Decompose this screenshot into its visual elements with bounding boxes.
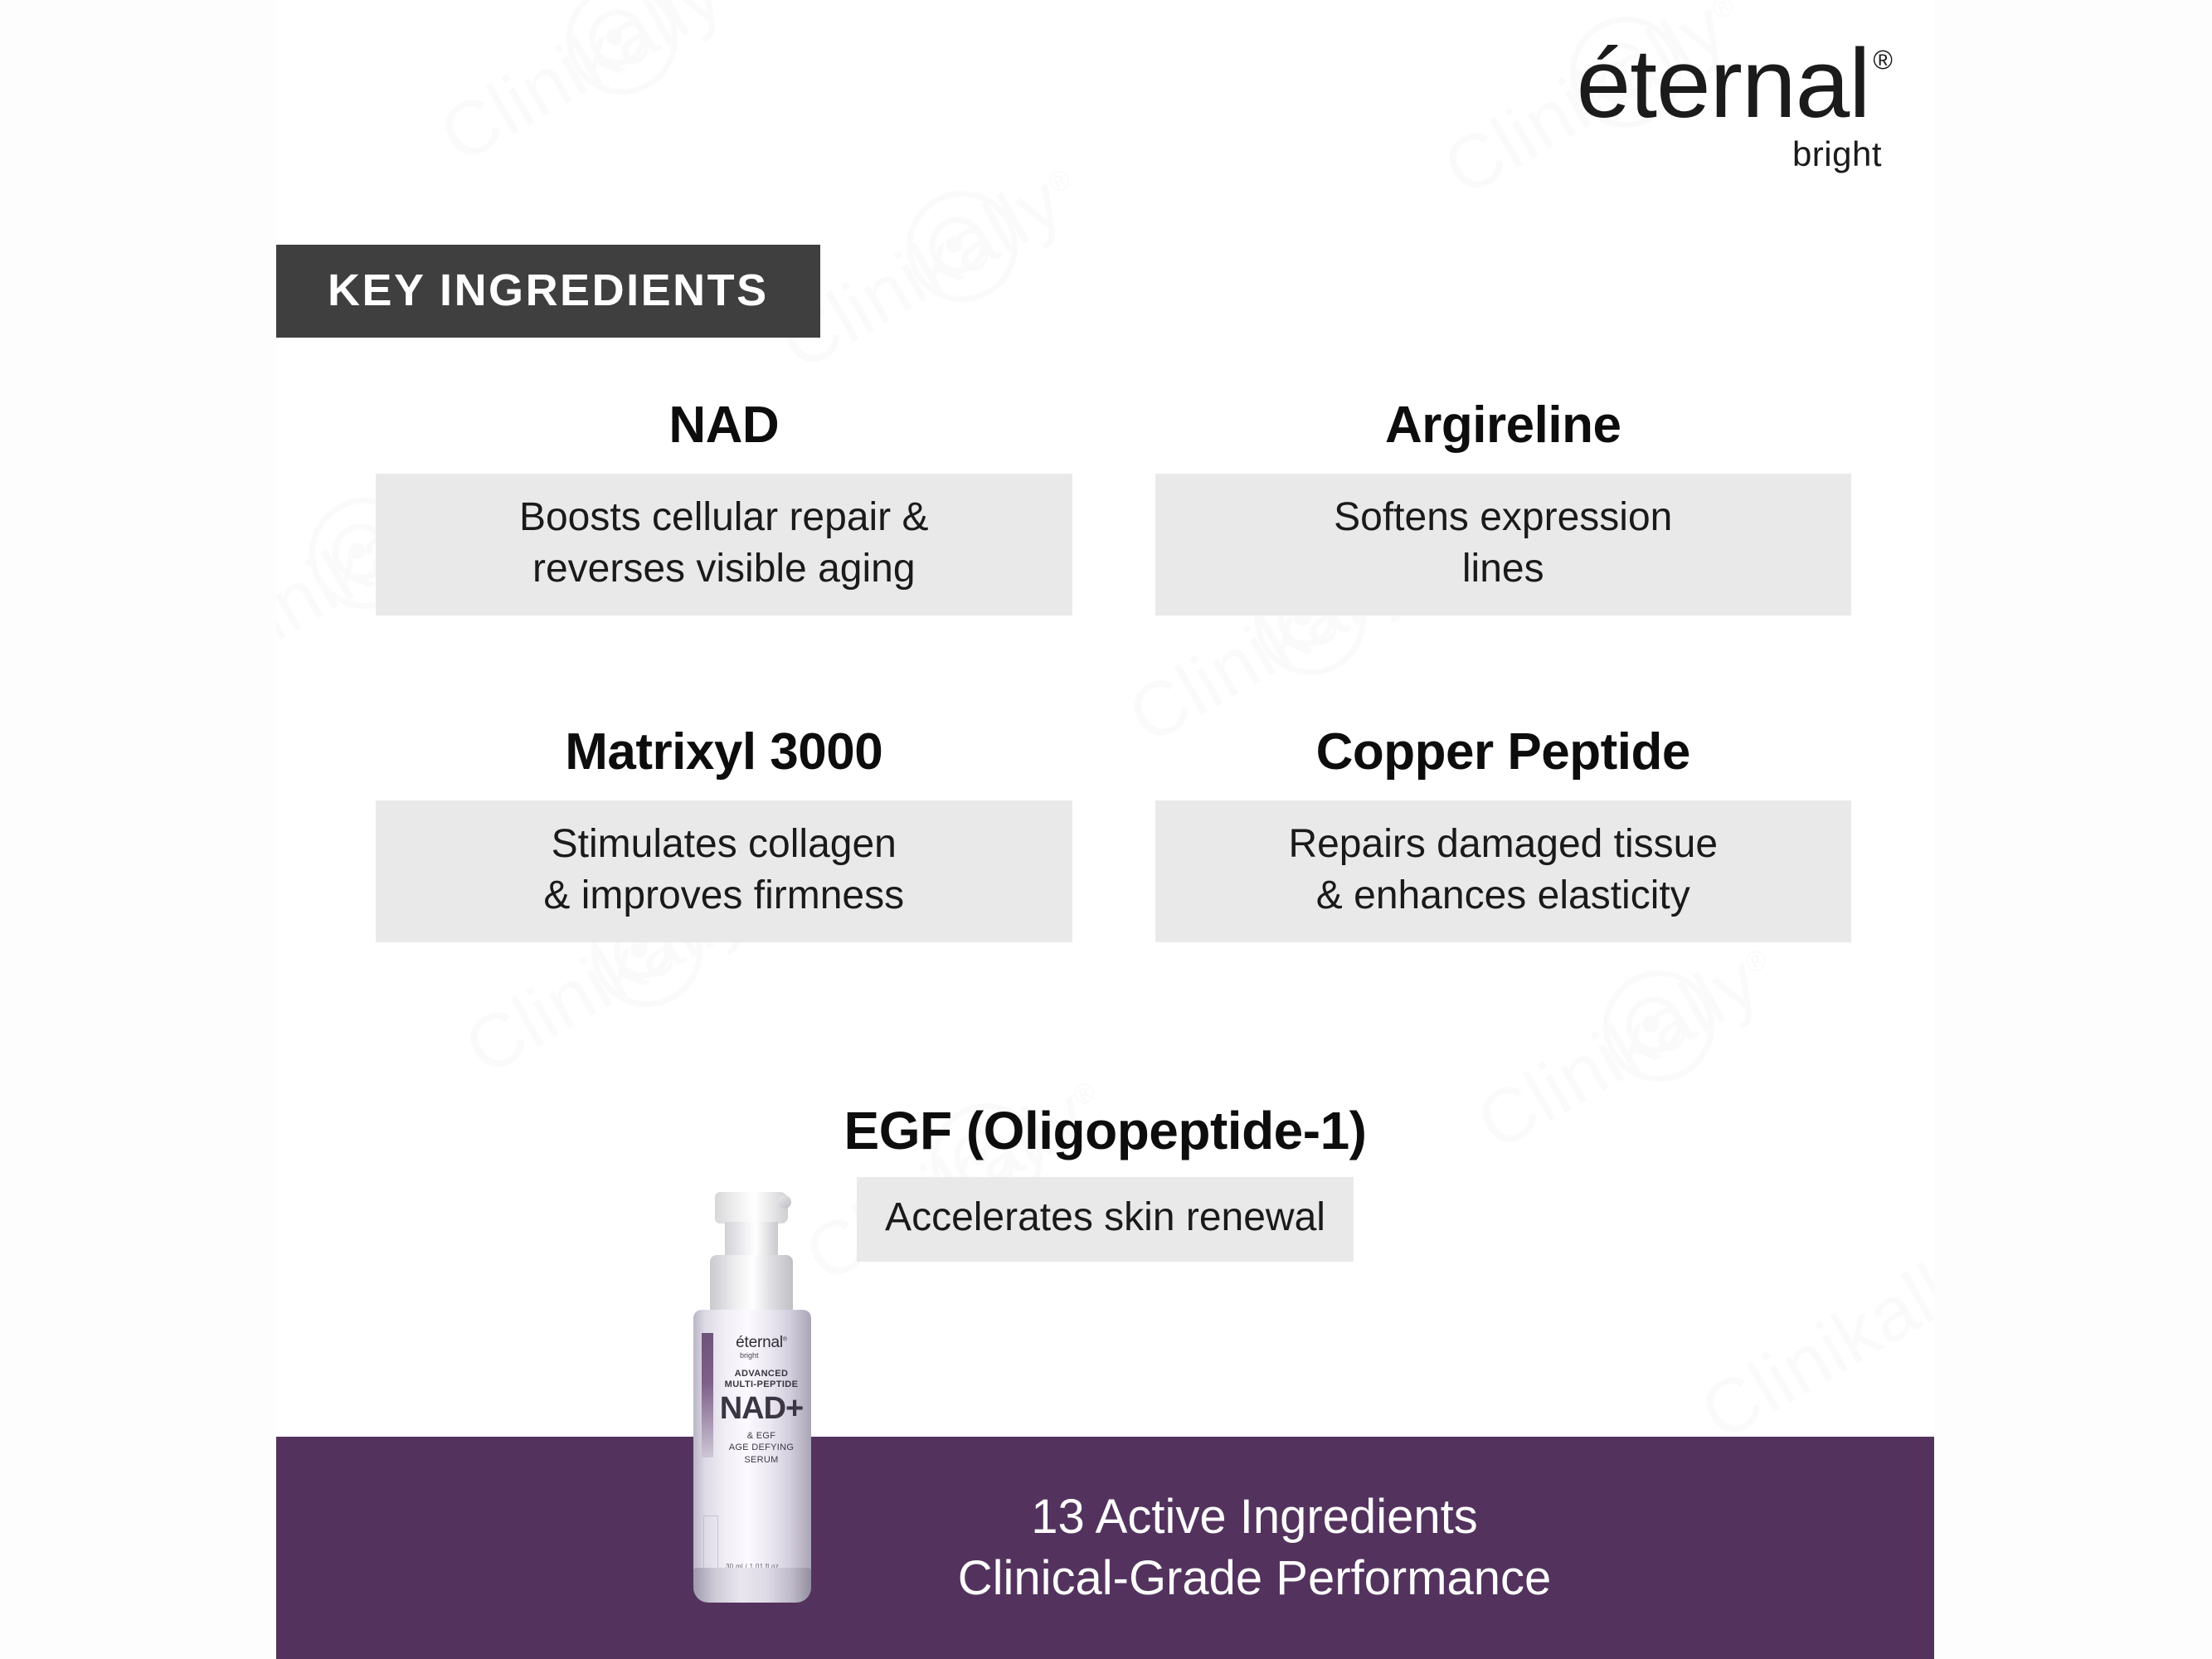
bottle-side-accent [702,1333,713,1457]
bottle-label-brand: éternal® [718,1335,805,1350]
ingredient-description: Stimulates collagen & improves firmness [376,800,1072,942]
ingredient-card-copper-peptide: Copper Peptide Repairs damaged tissue & … [1106,725,1935,942]
ingredient-card-argireline: Argireline Softens expression lines [1106,398,1935,615]
ingredient-card-matrixyl-3000: Matrixyl 3000 Stimulates collagen & impr… [276,725,1106,942]
bottle-pump-top [715,1192,788,1224]
brand-name: éternal® [1577,35,1889,133]
key-ingredients-banner: KEY INGREDIENTS [276,245,820,338]
ingredient-description-line: & enhances elasticity [1316,873,1690,917]
bottle-side-panel [703,1515,718,1569]
clinikally-logo-watermark-icon [886,170,1038,322]
ingredient-description-line: & improves firmness [543,873,904,917]
ingredient-row: Matrixyl 3000 Stimulates collagen & impr… [276,725,1934,942]
ingredient-title: NAD [376,398,1072,452]
brand-subtitle: bright [1577,134,1882,174]
bottle-pump-collar [710,1255,793,1315]
ingredient-title: Argireline [1155,398,1852,452]
clinikally-logo-watermark-icon [1582,950,1734,1102]
footer-banner: 13 Active Ingredients Clinical-Grade Per… [276,1437,1934,1659]
bottle-label-serum-line: SERUM [744,1455,778,1465]
ingredient-description: Repairs damaged tissue & enhances elasti… [1155,800,1852,942]
bottle-label-subtitle: & EGF AGE DEFYING SERUM [718,1430,805,1466]
ingredient-description: Accelerates skin renewal [857,1177,1354,1261]
watermark-text: Clinikally® [425,0,756,181]
bottle-label-brand-sub: bright [740,1351,805,1360]
bottle-label-egf-line: & EGF [747,1431,776,1441]
ingredient-description-line: reverses visible aging [532,547,916,591]
bottle-base [693,1568,811,1603]
product-bottle-image: éternal® bright ADVANCED MULTI-PEPTIDE N… [678,1192,826,1603]
registered-trademark-icon: ® [1873,45,1892,75]
ingredient-description-line: Boosts cellular repair & [519,495,929,539]
ingredient-title: Copper Peptide [1155,725,1852,779]
footer-line-1: 13 Active Ingredients [958,1486,1552,1548]
clinikally-logo-watermark-icon [546,0,698,115]
bottle-label-advanced-line: ADVANCED [735,1369,789,1379]
ingredient-description: Softens expression lines [1155,474,1852,615]
ingredient-title: Matrixyl 3000 [376,725,1072,779]
ingredient-description-line: Softens expression [1334,495,1672,539]
ingredient-description-line: lines [1462,547,1544,591]
bottle-label-age-defying-line: AGE DEFYING [729,1443,794,1452]
ingredients-grid: NAD Boosts cellular repair & reverses vi… [276,398,1934,942]
ingredient-row: NAD Boosts cellular repair & reverses vi… [276,398,1934,615]
ingredient-description: Boosts cellular repair & reverses visibl… [376,474,1072,615]
bottle-label-hero: NAD+ [718,1393,805,1424]
infographic-card: Clinikally® Clinikally® Clinikally® Clin… [276,0,1934,1659]
ingredient-description-line: Stimulates collagen [552,822,897,866]
ingredient-title: EGF (Oligopeptide-1) [276,1103,1934,1159]
bottle-pump-neck [725,1222,778,1258]
ingredient-description-line: Repairs damaged tissue [1288,822,1718,866]
ingredient-card-nad: NAD Boosts cellular repair & reverses vi… [276,398,1106,615]
bottle-label-multipeptide-line: MULTI-PEPTIDE [725,1379,799,1389]
brand-logo: éternal® bright [1577,35,1889,174]
bottle-label-advanced: ADVANCED MULTI-PEPTIDE [718,1369,805,1390]
bottle-label: éternal® bright ADVANCED MULTI-PEPTIDE N… [718,1335,805,1466]
footer-line-2: Clinical-Grade Performance [958,1548,1552,1609]
ingredient-card-egf: EGF (Oligopeptide-1) Accelerates skin re… [276,1103,1934,1262]
bottle-body: éternal® bright ADVANCED MULTI-PEPTIDE N… [693,1310,811,1600]
